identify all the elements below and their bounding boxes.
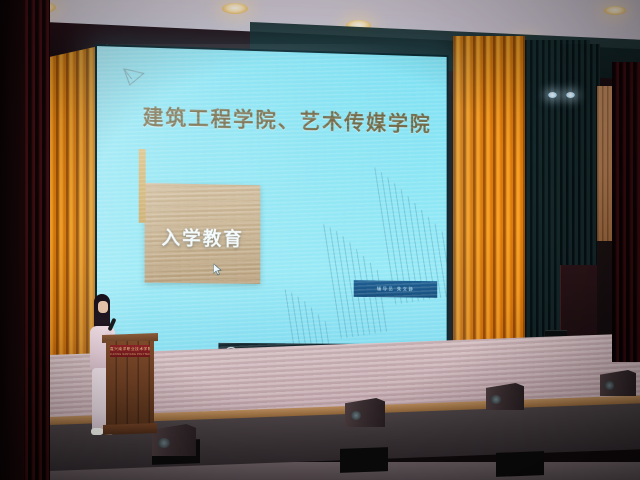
slide-canvas: 建筑工程学院、艺术传媒学院 入学教育 辅导员 朱文静 [95,44,449,366]
speaker-cone [605,381,614,389]
stage-vent-3 [496,451,544,477]
ceiling-light-2 [222,3,248,14]
monitor-speaker-2 [345,398,385,427]
slide-headline-text: 入学教育 [145,223,261,252]
monitor-speaker-4 [600,370,636,396]
auditorium-stage-photo: 建筑工程学院、艺术传媒学院 入学教育 辅导员 朱文静 [0,0,640,480]
speaker-cone [491,395,501,404]
slide-title: 建筑工程学院、艺术传媒学院 [143,101,433,138]
skyline-line-art-icon [273,160,449,348]
stage-spot-1 [548,92,557,98]
stage-spot-2 [566,92,575,98]
ceiling-light-5 [604,6,626,15]
orange-curtain-right [453,36,525,384]
mouse-pointer-icon [214,264,223,276]
stage-vent-2 [340,447,388,473]
slide-presenter-credits: 辅导员 朱文静 [354,280,438,298]
monitor-speaker-1 [152,424,196,456]
slide-accent-bar [139,149,146,223]
monitor-speaker-3 [486,383,524,410]
podium-base [103,423,157,435]
slide-headline-box: 入学教育 [145,183,261,284]
school-crest-emblem: 嘉兴南洋职业技术学院 JIAXING NANYANG POLYTECHNIC I… [110,345,150,357]
presenter-face [98,301,108,313]
slide-presenter-band: 辅导员 朱文静 [354,280,438,298]
speaker-cone [158,438,169,448]
speaker-cone [351,411,361,420]
podium: 嘉兴南洋职业技术学院 JIAXING NANYANG POLYTECHNIC I… [106,334,154,438]
front-curtain-left-edge [0,0,24,480]
podium-emblem-text: 嘉兴南洋职业技术学院 [110,345,150,353]
podium-emblem-subtext: JIAXING NANYANG POLYTECHNIC INSTITUTE [110,353,150,356]
paper-plane-mark-icon [123,67,145,88]
projection-screen[interactable]: 建筑工程学院、艺术传媒学院 入学教育 辅导员 朱文静 [95,44,449,366]
front-curtain-right [612,62,640,362]
